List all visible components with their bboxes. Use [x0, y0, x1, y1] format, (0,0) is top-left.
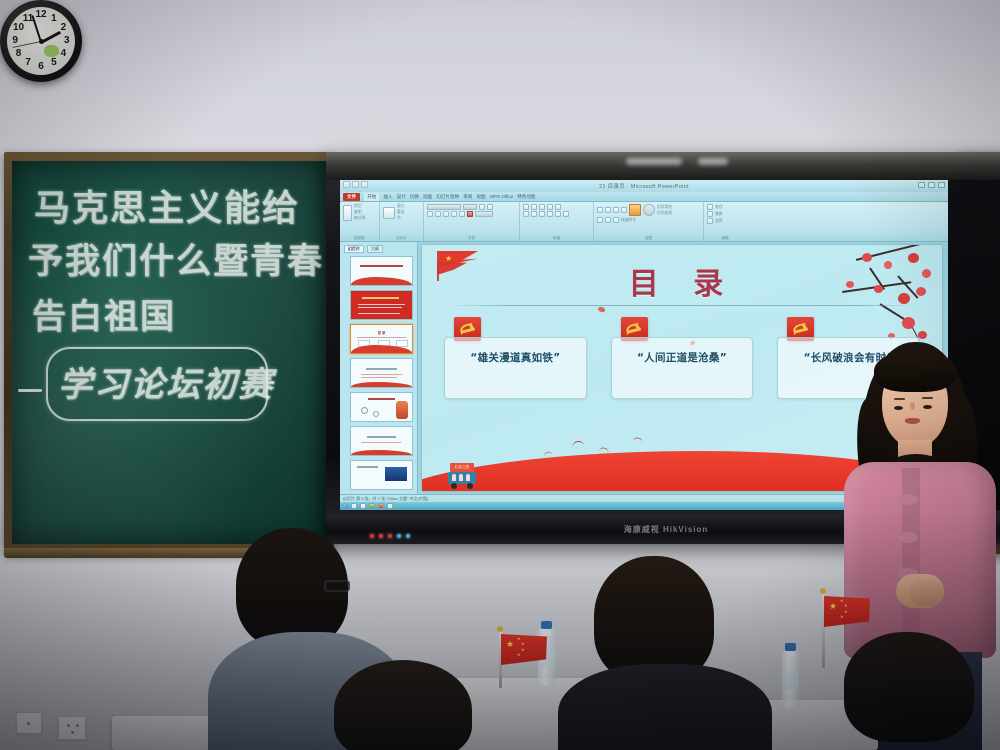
tab-review[interactable]: 审阅: [463, 194, 472, 200]
tab-wps-office[interactable]: WPS Office: [490, 194, 514, 199]
tab-animations[interactable]: 动画: [423, 194, 432, 200]
thumb-title: 目 录: [351, 330, 412, 335]
chalk-boxed-line: 学习论坛初赛: [58, 357, 274, 406]
chalk-line-1: 马克思主义能给: [34, 179, 300, 231]
ribbon-group-paragraph[interactable]: 段落: [520, 202, 594, 241]
text-direction-button[interactable]: [563, 211, 569, 217]
new-slide-button[interactable]: [383, 207, 395, 219]
character-spacing-button[interactable]: [475, 211, 493, 217]
eye-right: [923, 405, 932, 409]
clock-numeral-8: 8: [12, 47, 26, 61]
clock-numeral-5: 5: [47, 56, 61, 70]
hands-overlap: [910, 580, 944, 606]
restore-icon[interactable]: [928, 182, 935, 188]
clock-center-pin: [39, 39, 44, 44]
light-switch[interactable]: [16, 712, 42, 734]
shape-banner-button[interactable]: [613, 217, 619, 223]
smartboard-brand-label: 海康威视 HikVision: [624, 524, 709, 535]
font-color-button[interactable]: [467, 211, 473, 217]
ribbon[interactable]: 剪切 复制 格式刷 剪贴板 版式 重设 节: [340, 202, 948, 242]
tab-insert[interactable]: 插入: [383, 194, 392, 200]
tab-slides[interactable]: 幻灯片: [344, 245, 364, 253]
tab-slideshow[interactable]: 幻灯片放映: [436, 194, 459, 200]
undo-icon[interactable]: [352, 181, 359, 188]
chalk-line-3: 告白祖国: [32, 289, 176, 338]
ribbon-group-drawing[interactable]: 形状填充 形状轮廓 快速样式 绘图: [594, 202, 704, 241]
thumbnail-slide-7[interactable]: 7: [350, 460, 413, 490]
shape-star-button[interactable]: [597, 217, 603, 223]
head: [334, 660, 472, 750]
thumbnail-slide-6[interactable]: 6: [350, 426, 413, 456]
ribbon-group-slides[interactable]: 版式 重设 节 幻灯片: [380, 202, 424, 241]
student-front-center: [320, 660, 490, 750]
clock-numeral-12: 12: [34, 8, 48, 22]
shadow-button[interactable]: [451, 211, 457, 217]
contents-card-1[interactable]: “雄关漫道真如铁”: [444, 317, 587, 399]
contents-card-2[interactable]: “人间正道是沧桑”: [611, 317, 754, 399]
clock-decal: [44, 45, 59, 57]
chat-icon[interactable]: [369, 503, 375, 509]
shape-oval-button[interactable]: [605, 207, 611, 213]
slides-group-label: 幻灯片: [380, 236, 423, 241]
columns-button[interactable]: [555, 211, 561, 217]
align-right-button[interactable]: [539, 211, 545, 217]
font-family-select[interactable]: [427, 204, 461, 210]
paragraph-group-label: 段落: [520, 236, 593, 241]
close-icon[interactable]: [938, 182, 945, 188]
blackboard-left: 马克思主义能给 予我们什么暨青春 告白祖国 学习论坛初赛: [4, 152, 334, 554]
chinese-flag-left: ★ ★ ★ ★ ★: [497, 634, 553, 696]
flag-big-star: ★: [506, 640, 514, 649]
redo-icon[interactable]: [361, 181, 368, 188]
smartboard-top-bezel: [326, 152, 1000, 180]
power-outlet[interactable]: [58, 716, 86, 740]
chalk-line-2: 予我们什么暨青春: [28, 233, 324, 284]
student-back-right: [836, 632, 1000, 750]
minimize-icon[interactable]: [918, 182, 925, 188]
frog-button-1: [898, 494, 918, 505]
tab-special-features[interactable]: 特色功能: [517, 194, 535, 200]
bullets-button[interactable]: [523, 204, 529, 210]
select-label[interactable]: 选择: [715, 219, 723, 224]
slide-title: 目 录: [422, 259, 942, 303]
tab-outline[interactable]: 大纲: [367, 245, 383, 253]
strikethrough-button[interactable]: [459, 211, 465, 217]
ribbon-group-clipboard[interactable]: 剪切 复制 格式刷 剪贴板: [340, 202, 380, 241]
paste-button[interactable]: [343, 205, 352, 221]
layout-label[interactable]: 版式: [397, 204, 405, 209]
water-bottle-right: [782, 650, 799, 708]
ribbon-group-editing[interactable]: 查找 替换 选择 编辑: [704, 202, 746, 241]
shape-line-button[interactable]: [621, 207, 627, 213]
shape-outline-label[interactable]: 形状轮廓: [657, 211, 672, 216]
thumbnail-slide-3[interactable]: 3 目 录: [350, 324, 413, 354]
tab-transitions[interactable]: 切换: [410, 194, 419, 200]
classroom-scene: 12 1 2 3 4 5 6 7 8 9 10 11 马克思主义能给 予我们什么…: [0, 0, 1000, 750]
hair-fringe: [874, 350, 956, 392]
shape-gallery-button[interactable]: [629, 204, 641, 216]
tab-file[interactable]: 文件: [343, 193, 360, 201]
bus-illustration: 红色之旅: [448, 463, 478, 489]
clipboard-group-label: 剪贴板: [340, 236, 379, 241]
clock-numeral-6: 6: [34, 60, 48, 74]
glasses-icon: [324, 580, 350, 592]
folder-icon[interactable]: [351, 503, 357, 509]
arrange-button[interactable]: [643, 204, 655, 216]
shape-arrow-button[interactable]: [613, 207, 619, 213]
line-spacing-button[interactable]: [555, 204, 561, 210]
wall-clock: 12 1 2 3 4 5 6 7 8 9 10 11: [0, 0, 82, 82]
thumbnail-slide-1[interactable]: 1: [350, 256, 413, 286]
clock-hour-hand: [40, 31, 61, 44]
frog-button-2: [898, 532, 918, 543]
slide-thumbnail-panel[interactable]: 幻灯片 大纲 1 2: [340, 242, 418, 494]
student-front-right: [570, 556, 760, 750]
increase-indent-button[interactable]: [547, 204, 553, 210]
shoulders: [558, 664, 772, 750]
blackboard-left-surface: 马克思主义能给 予我们什么暨青春 告白祖国 学习论坛初赛: [12, 161, 326, 544]
reset-label[interactable]: 重设: [397, 210, 405, 215]
replace-label[interactable]: 替换: [715, 212, 723, 217]
eye-left: [894, 406, 903, 410]
font-group-label: 字体: [424, 236, 519, 241]
select-icon[interactable]: [707, 218, 713, 224]
decrease-indent-button[interactable]: [539, 204, 545, 210]
cut-label[interactable]: 剪切: [354, 204, 365, 209]
shape-rect-button[interactable]: [597, 207, 603, 213]
tab-view[interactable]: 视图: [476, 194, 485, 200]
find-icon[interactable]: [707, 204, 713, 210]
copy-label[interactable]: 复制: [354, 210, 365, 215]
format-painter-label[interactable]: 格式刷: [354, 216, 365, 221]
head: [844, 632, 974, 742]
led-blue-2: [406, 534, 410, 538]
replace-icon[interactable]: [707, 211, 713, 217]
thumb-wave: [351, 277, 412, 285]
shape-callout-button[interactable]: [605, 217, 611, 223]
shape-fill-label[interactable]: 形状填充: [657, 205, 672, 210]
editing-group-label: 编辑: [704, 236, 746, 241]
increase-font-size-button[interactable]: [479, 204, 485, 210]
thumbnail-slide-4[interactable]: 4: [350, 358, 413, 388]
card-text-1: “雄关漫道真如铁”: [445, 350, 586, 365]
clock-numeral-3: 3: [60, 34, 74, 48]
thumbnail-slide-5[interactable]: 5: [350, 392, 413, 422]
section-label[interactable]: 节: [397, 216, 405, 221]
bezel-glint: [626, 158, 682, 165]
player-icon[interactable]: [378, 503, 384, 509]
bezel-glint-2: [698, 158, 728, 165]
decrease-font-size-button[interactable]: [487, 204, 493, 210]
tab-design[interactable]: 设计: [397, 194, 406, 200]
ppt-document-title: 21 目录页 - Microsoft PowerPoint: [599, 182, 689, 190]
quick-styles-label[interactable]: 快速样式: [621, 218, 636, 223]
flag-big-star: ★: [829, 602, 837, 611]
numbering-button[interactable]: [531, 204, 537, 210]
mail-icon[interactable]: [360, 503, 366, 509]
drawing-group-label: 绘图: [594, 236, 703, 241]
align-center-button[interactable]: [531, 211, 537, 217]
italic-button[interactable]: [435, 211, 441, 217]
ribbon-tabs[interactable]: 文件 开始 插入 设计 切换 动画 幻灯片放映 审阅 视图 WPS Office…: [340, 192, 948, 202]
led-blue-1: [397, 534, 401, 538]
mouth: [905, 418, 920, 424]
chalk-dash: [18, 389, 42, 392]
nose: [910, 402, 915, 410]
ppt-icon[interactable]: [387, 503, 393, 509]
ribbon-group-font[interactable]: 字体: [424, 202, 520, 241]
clock-face: 12 1 2 3 4 5 6 7 8 9 10 11: [7, 7, 75, 75]
browser-icon[interactable]: [342, 503, 348, 509]
card-box-1[interactable]: “雄关漫道真如铁”: [444, 337, 587, 399]
tab-home[interactable]: 开始: [364, 193, 379, 201]
font-size-select[interactable]: [463, 204, 477, 210]
title-divider: [448, 305, 916, 306]
card-text-2: “人间正道是沧桑”: [612, 350, 753, 365]
align-left-button[interactable]: [523, 211, 529, 217]
justify-button[interactable]: [547, 211, 553, 217]
thumbnail-slide-2[interactable]: 2: [350, 290, 413, 320]
save-icon[interactable]: [343, 181, 350, 188]
underline-button[interactable]: [443, 211, 449, 217]
quick-access-toolbar[interactable]: [343, 181, 368, 188]
bus-sign-text: 红色之旅: [450, 463, 474, 472]
card-box-2[interactable]: “人间正道是沧桑”: [611, 337, 754, 399]
window-buttons[interactable]: [918, 182, 945, 188]
ppt-title-bar: 21 目录页 - Microsoft PowerPoint: [340, 180, 948, 192]
bus-sign: 红色之旅: [450, 463, 474, 472]
bold-button[interactable]: [427, 211, 433, 217]
find-label[interactable]: 查找: [715, 205, 723, 210]
thumbnail-tabs[interactable]: 幻灯片 大纲: [344, 245, 413, 253]
